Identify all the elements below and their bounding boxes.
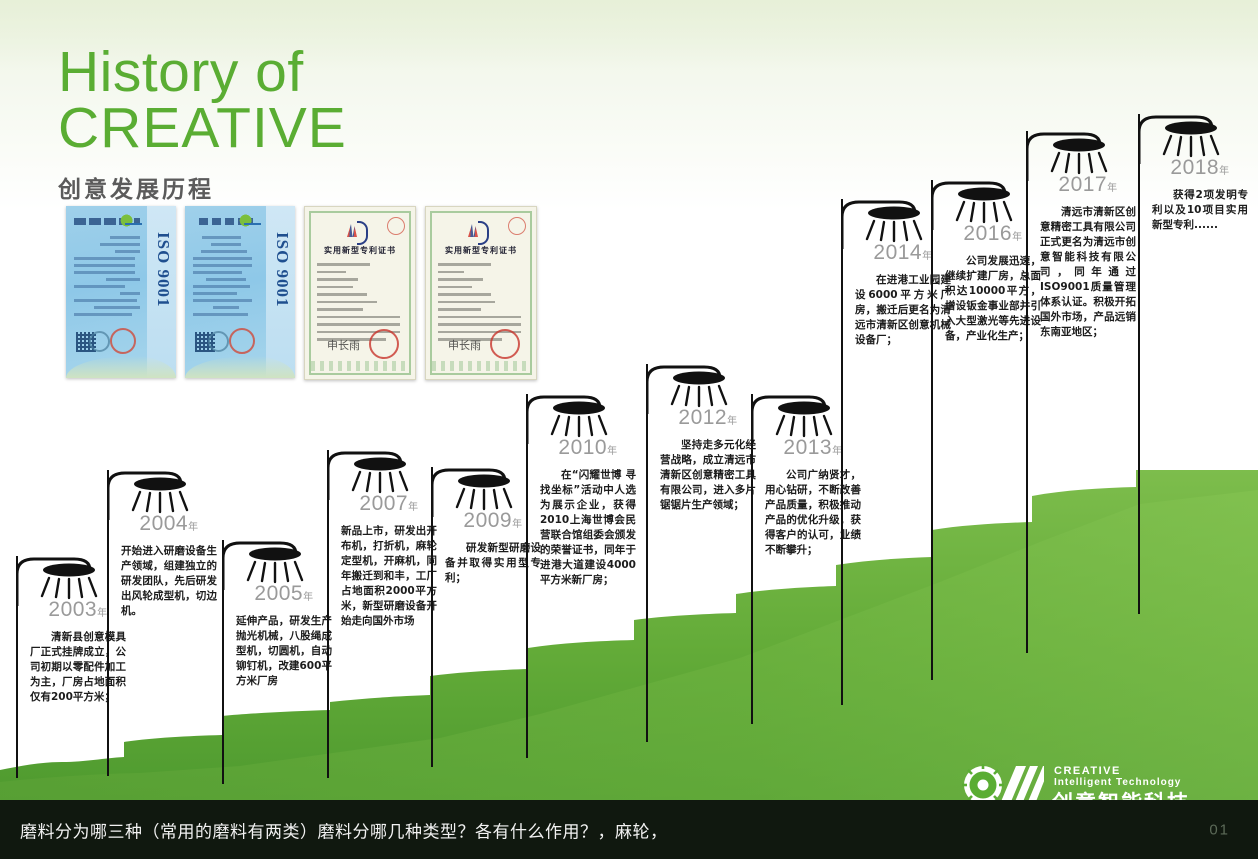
timeline-card: 2013年 公司广纳贤才，用心钻研，不断改善产品质量，积极推动产品的优化升级，获… (765, 436, 861, 558)
patent-corner-stamp (387, 217, 405, 235)
timeline-year: 2005年 (236, 582, 332, 606)
timeline-text: 获得2项发明专利以及10项目实用新型专利...... (1152, 188, 1248, 233)
certificate-accreditation-mark (89, 331, 110, 352)
timeline-text: 清新县创意模具厂正式挂牌成立，公司初期以零配件加工为主，厂房占地面积仅有200平… (30, 630, 126, 705)
timeline-text: 新品上市，研发出开布机，打折机，麻轮定型机，开麻机，同年搬迁到和丰，工厂占地面积… (341, 524, 437, 629)
timeline-text: 在“闪耀世博 寻找坐标”活动中人选为展示企业，获得2010上海世博会民营联合馆组… (540, 468, 636, 588)
timeline-text: 坚持走多元化经营战略，成立清远市清新区创意精密工具有限公司，进入多片锯锯片生产领… (660, 438, 756, 513)
patent-title: 实用新型专利证书 (426, 245, 536, 256)
timeline-year: 2018年 (1152, 156, 1248, 180)
patent-title: 实用新型专利证书 (305, 245, 415, 256)
certificate-body-lines (74, 236, 140, 320)
title-line-1: History of (58, 44, 478, 100)
patent-emblem-icon (468, 221, 494, 241)
timeline-card: 2005年 延伸产品，研发生产抛光机械，八股绳成型机，切圆机，自动铆钉机，改建6… (236, 582, 332, 689)
timeline-year: 2004年 (121, 512, 217, 536)
timeline-text: 公司广纳贤才，用心钻研，不断改善产品质量，积极推动产品的优化升级，获得客户的认可… (765, 468, 861, 558)
patent-footer-pattern (311, 361, 409, 371)
certifier-logo-icon (120, 213, 142, 228)
patent-certificate-2: 实用新型专利证书 申长雨 (425, 206, 537, 380)
caption-text: 磨料分为哪三种（常用的磨料有两类）磨料分哪几种类型？各有什么作用？，麻轮， (20, 817, 668, 842)
timeline-card: 2003年 清新县创意模具厂正式挂牌成立，公司初期以零配件加工为主，厂房占地面积… (30, 598, 126, 705)
page-number: 01 (1209, 821, 1230, 838)
patent-signature: 申长雨 (448, 337, 481, 353)
iso-label: ISO 9001 (268, 232, 292, 308)
timeline-text: 延伸产品，研发生产抛光机械，八股绳成型机，切圆机，自动铆钉机，改建600平方米厂… (236, 614, 332, 689)
timeline-card: 2010年 在“闪耀世博 寻找坐标”活动中人选为展示企业，获得2010上海世博会… (540, 436, 636, 588)
timeline-card: 2014年 在进港工业园建设6000平方米厂房，搬迁后更名为清远市清新区创意机械… (855, 241, 951, 348)
timeline-year: 2017年 (1040, 173, 1136, 197)
post-pole (1138, 114, 1140, 614)
timeline-year: 2003年 (30, 598, 126, 622)
certificate-seal (110, 328, 136, 354)
certificate-seal (229, 328, 255, 354)
post-pole (646, 364, 648, 742)
iso-certificate-cn: ISO 9001 (66, 206, 176, 378)
poster-canvas: History of CREATIVE 创意发展历程 (0, 0, 1258, 859)
iso-label: ISO 9001 (149, 232, 173, 308)
timeline-year: 2010年 (540, 436, 636, 460)
logo-stripes-icon (998, 766, 1044, 804)
certifier-logo-icon (239, 213, 261, 228)
title-line-2: CREATIVE (58, 100, 478, 156)
page-subtitle: 创意发展历程 (58, 170, 478, 204)
logo-en-line-1: CREATIVE (1054, 765, 1121, 777)
patent-official-seal (369, 329, 399, 359)
timeline-card: 2017年 清远市清新区创意精密工具有限公司正式更名为清远市创意智能科技有限公司… (1040, 173, 1136, 340)
timeline-year: 2012年 (660, 406, 756, 430)
timeline-text: 清远市清新区创意精密工具有限公司正式更名为清远市创意智能科技有限公司，同年通过I… (1040, 205, 1136, 340)
post-pole (526, 394, 528, 758)
timeline-text: 在进港工业园建设6000平方米厂房，搬迁后更名为清远市清新区创意机械设备厂； (855, 273, 951, 348)
timeline-card: 2007年 新品上市，研发出开布机，打折机，麻轮定型机，开麻机，同年搬迁到和丰，… (341, 492, 437, 629)
timeline-year: 2014年 (855, 241, 951, 265)
caption-bar: 磨料分为哪三种（常用的磨料有两类）磨料分哪几种类型？各有什么作用？，麻轮， 01 (0, 800, 1258, 859)
iso-certificate-en: ISO 9001 (185, 206, 295, 378)
post-pole (931, 180, 933, 680)
timeline-card: 2004年 开始进入研磨设备生产领域，组建独立的研发团队，先后研发出风轮成型机，… (121, 512, 217, 619)
certificate-gallery: ISO 9001 ISO (66, 206, 537, 380)
patent-official-seal (490, 329, 520, 359)
page-header: History of CREATIVE 创意发展历程 (58, 44, 478, 204)
timeline-year: 2007年 (341, 492, 437, 516)
timeline-text: 开始进入研磨设备生产领域，组建独立的研发团队，先后研发出风轮成型机，切边机。 (121, 544, 217, 619)
certificate-body-lines (193, 236, 259, 320)
patent-certificate-1: 实用新型专利证书 申长雨 (304, 206, 416, 380)
patent-footer-pattern (432, 361, 530, 371)
patent-signature: 申长雨 (327, 337, 360, 353)
timeline-year: 2013年 (765, 436, 861, 460)
post-pole (841, 199, 843, 705)
timeline-card: 2012年 坚持走多元化经营战略，成立清远市清新区创意精密工具有限公司，进入多片… (660, 406, 756, 513)
patent-emblem-icon (347, 221, 373, 241)
patent-corner-stamp (508, 217, 526, 235)
timeline-card: 2018年 获得2项发明专利以及10项目实用新型专利...... (1152, 156, 1248, 233)
post-pole (1026, 131, 1028, 653)
certificate-accreditation-mark (208, 331, 229, 352)
